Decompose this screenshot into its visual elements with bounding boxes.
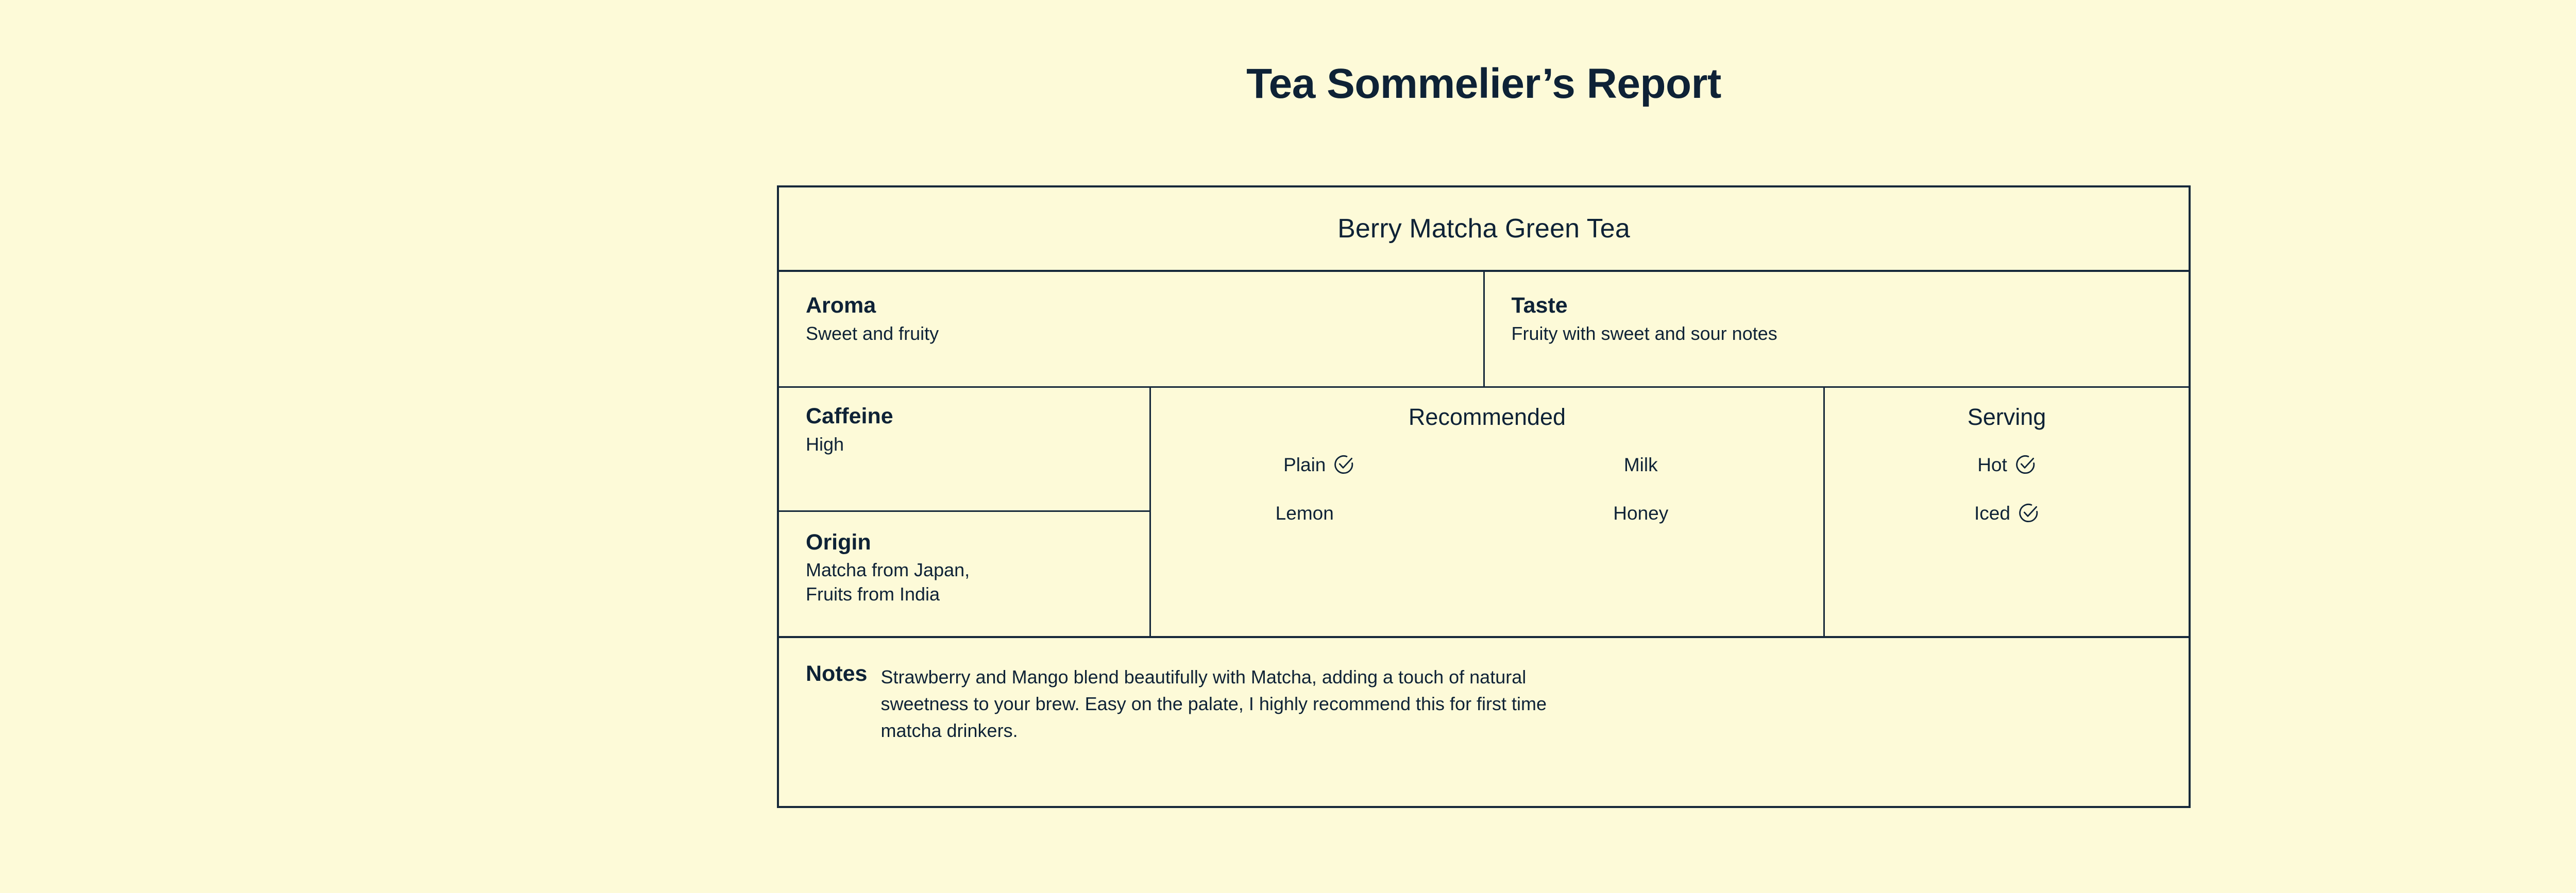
- notes-text: Strawberry and Mango blend beautifully w…: [880, 661, 1643, 806]
- aroma-taste-row: Aroma Sweet and fruity Taste Fruity with…: [779, 272, 2189, 386]
- tea-name: Berry Matcha Green Tea: [1337, 213, 1630, 244]
- serving-cell: Serving Hot Iced: [1825, 388, 2189, 636]
- recommended-title: Recommended: [1409, 403, 1566, 431]
- option-label: Plain: [1283, 455, 1326, 474]
- check-circle-icon: [2014, 454, 2036, 475]
- option-label: Honey: [1613, 504, 1668, 523]
- option-lemon[interactable]: Lemon: [1276, 502, 1363, 524]
- caffeine-origin-column: Caffeine High Origin Matcha from Japan, …: [779, 388, 1149, 636]
- option-label: Milk: [1624, 455, 1658, 474]
- recommended-cell: Recommended Plain Milk: [1151, 388, 1823, 636]
- taste-cell: Taste Fruity with sweet and sour notes: [1485, 272, 2189, 386]
- middle-row: Caffeine High Origin Matcha from Japan, …: [779, 388, 2189, 636]
- notes-row: Notes Strawberry and Mango blend beautif…: [779, 638, 2189, 806]
- option-plain[interactable]: Plain: [1283, 454, 1354, 475]
- option-hot[interactable]: Hot: [1977, 454, 2036, 475]
- caffeine-cell: Caffeine High: [779, 388, 1149, 510]
- check-circle-icon: [2018, 502, 2039, 524]
- serving-title: Serving: [1968, 403, 2046, 431]
- origin-value: Matcha from Japan, Fruits from India: [806, 558, 976, 607]
- option-label: Hot: [1977, 455, 2007, 474]
- option-label: Lemon: [1276, 504, 1334, 523]
- origin-label: Origin: [806, 529, 1149, 556]
- report-page: Tea Sommelier’s Report Berry Matcha Gree…: [0, 0, 2576, 893]
- option-honey[interactable]: Honey: [1613, 502, 1697, 524]
- tea-report-table: Berry Matcha Green Tea Aroma Sweet and f…: [777, 185, 2191, 808]
- taste-value: Fruity with sweet and sour notes: [1512, 322, 2189, 346]
- aroma-label: Aroma: [806, 293, 1483, 319]
- option-milk[interactable]: Milk: [1624, 454, 1687, 475]
- check-circle-icon: [1333, 454, 1354, 475]
- caffeine-value: High: [806, 433, 1149, 457]
- table-header-row: Berry Matcha Green Tea: [779, 187, 2189, 270]
- taste-label: Taste: [1512, 293, 2189, 319]
- aroma-value: Sweet and fruity: [806, 322, 1483, 346]
- origin-cell: Origin Matcha from Japan, Fruits from In…: [779, 512, 1149, 637]
- recommended-options: Plain Milk: [1151, 454, 1823, 524]
- page-title: Tea Sommelier’s Report: [0, 61, 2576, 107]
- notes-label: Notes: [806, 661, 880, 806]
- option-label: Iced: [1974, 504, 2010, 523]
- option-iced[interactable]: Iced: [1974, 502, 2039, 524]
- serving-options: Hot Iced: [1974, 454, 2039, 524]
- caffeine-label: Caffeine: [806, 403, 1149, 430]
- aroma-cell: Aroma Sweet and fruity: [779, 272, 1483, 386]
